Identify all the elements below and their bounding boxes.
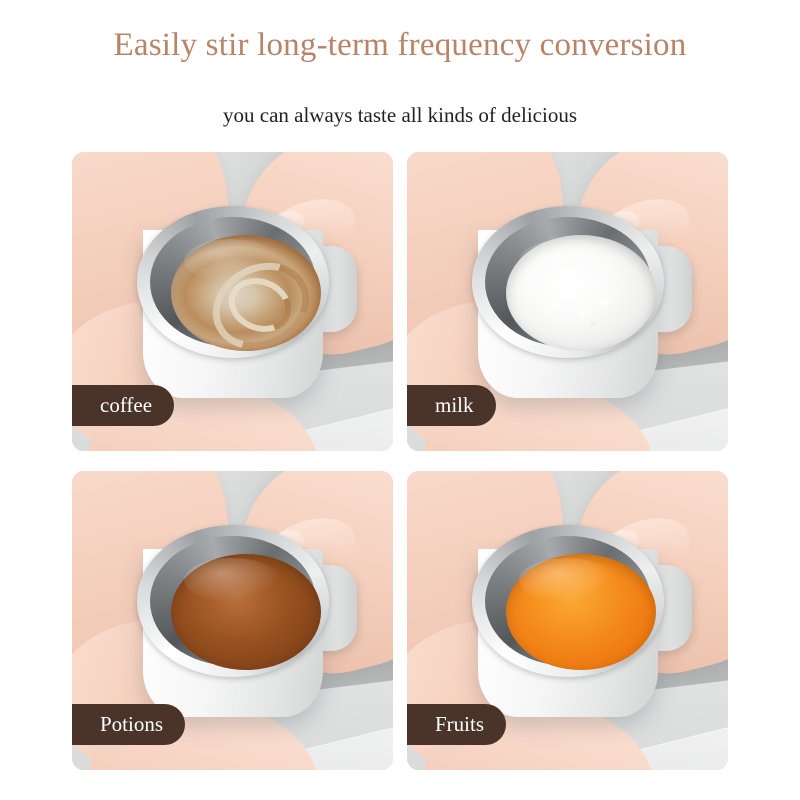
milk-foam: [536, 287, 631, 333]
page-subheadline: you can always taste all kinds of delici…: [0, 103, 800, 128]
mug-rim: [137, 206, 329, 358]
liquid-fruit: [506, 554, 656, 670]
caption-badge-potions: Potions: [72, 704, 185, 745]
caption-badge-milk: milk: [407, 385, 496, 426]
mug-rim-inner: [485, 217, 651, 347]
liquid-coffee: [171, 235, 321, 351]
mug-rim: [472, 206, 664, 358]
photo-panel-milk: milk: [407, 152, 728, 451]
self-stirring-mug: [470, 204, 666, 400]
product-photo-grid: coffee: [72, 152, 728, 770]
self-stirring-mug: [135, 523, 331, 719]
liquid-potion: [171, 554, 321, 670]
photo-panel-potions: Potions: [72, 471, 393, 770]
mug-rim: [137, 525, 329, 677]
caption-badge-coffee: coffee: [72, 385, 174, 426]
mug-rim: [472, 525, 664, 677]
mug-rim-inner: [150, 536, 316, 666]
self-stirring-mug: [470, 523, 666, 719]
caption-badge-fruits: Fruits: [407, 704, 506, 745]
mug-rim-inner: [150, 217, 316, 347]
mug-rim-inner: [485, 536, 651, 666]
photo-panel-coffee: coffee: [72, 152, 393, 451]
photo-panel-fruits: Fruits: [407, 471, 728, 770]
liquid-milk: [506, 235, 656, 351]
promo-page: Easily stir long-term frequency conversi…: [0, 0, 800, 800]
page-headline: Easily stir long-term frequency conversi…: [0, 27, 800, 64]
self-stirring-mug: [135, 204, 331, 400]
